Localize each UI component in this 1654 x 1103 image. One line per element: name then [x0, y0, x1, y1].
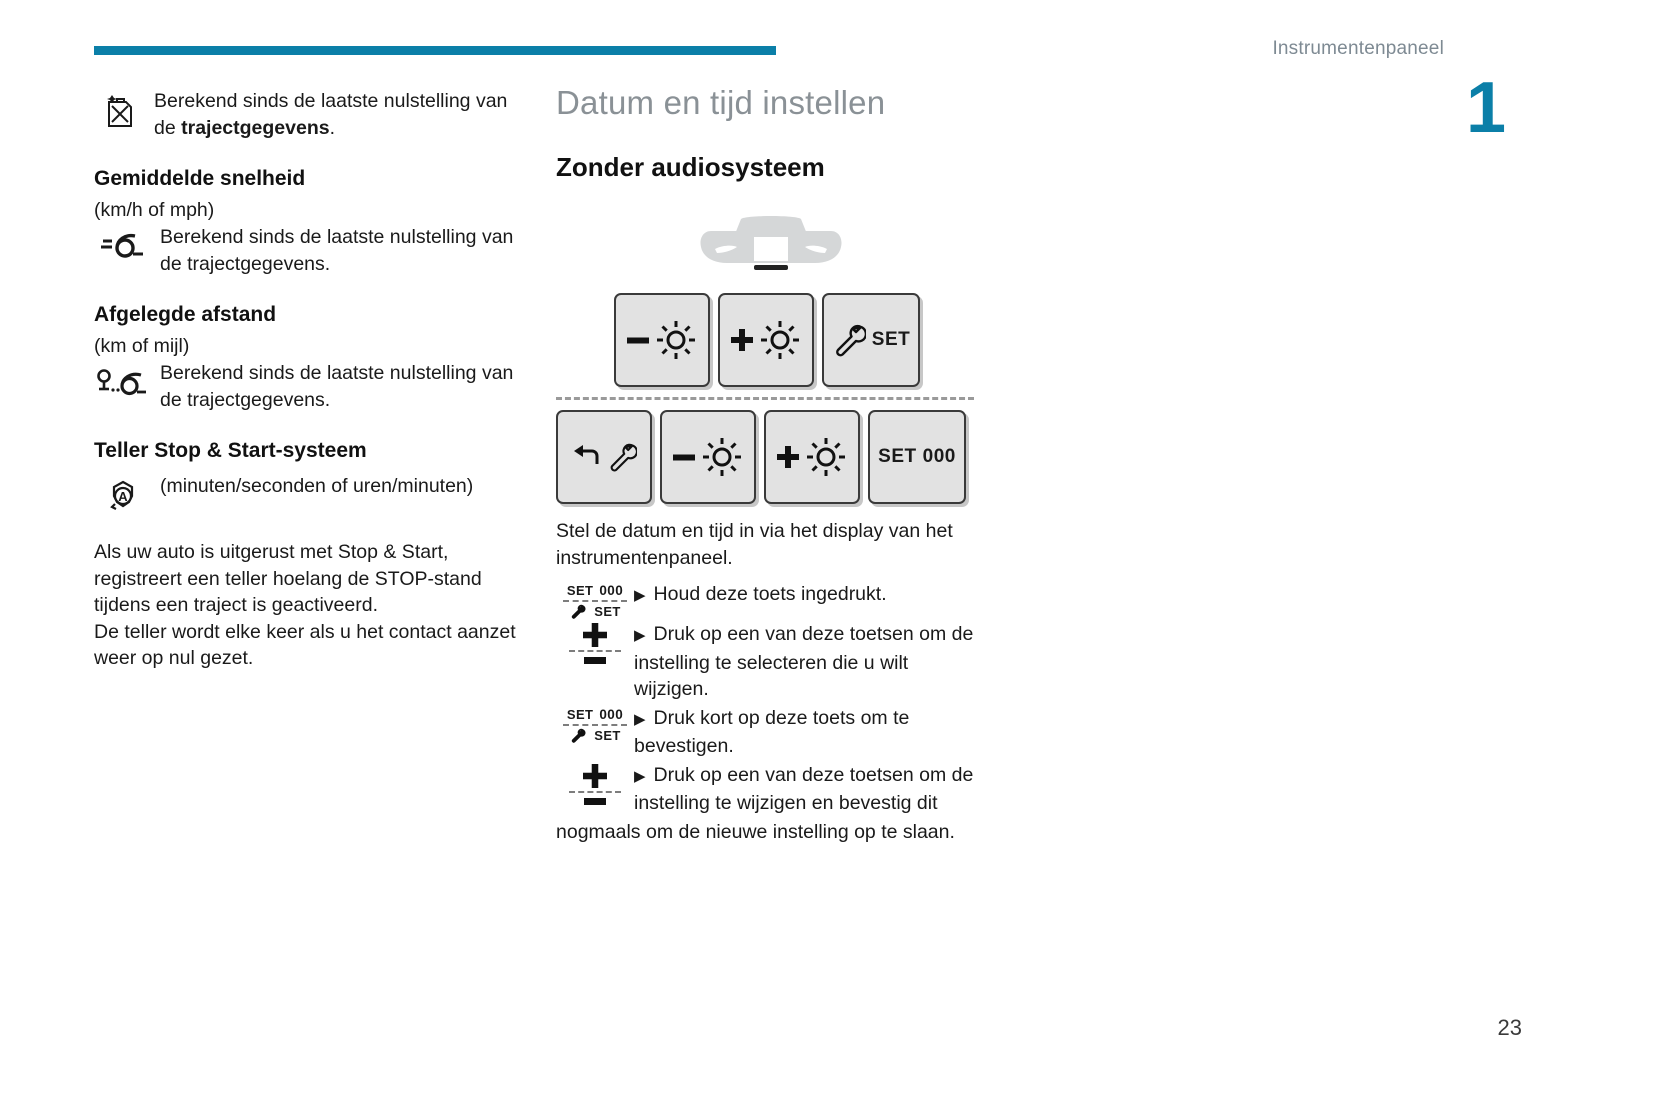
sun-icon: [701, 436, 743, 478]
instruction-sentence-tail: instelling te wijzigen en bevestig dit: [634, 792, 938, 814]
instruction-text: ▶Druk kort op deze toets om tebevestigen…: [634, 705, 986, 760]
unit-average-speed: (km/h of mph): [94, 199, 534, 222]
stop-start-description: Als uw auto is uitgerust met Stop & Star…: [94, 539, 534, 672]
instrument-cluster-icon: [697, 205, 845, 271]
plus-icon: [731, 329, 753, 351]
key-row-lower: SET 000: [556, 410, 986, 504]
glyph-set-label: SET: [567, 707, 593, 722]
glyph-000-label: 000: [599, 583, 623, 598]
distance-travelled-note-row: Berekend sinds de laatste nulstelling va…: [94, 360, 534, 413]
right-column: Datum en tijd instellen Zonder audiosyst…: [556, 84, 986, 845]
left-column: Berekend sinds de laatste nulstelling va…: [94, 88, 534, 672]
average-speed-note-row: Berekend sinds de laatste nulstelling va…: [94, 224, 534, 277]
instructions-closing: nogmaals om de nieuwe instelling op te s…: [556, 819, 986, 846]
page-number: 23: [1498, 1015, 1522, 1041]
stop-start-paragraph-1: Als uw auto is uitgerust met Stop & Star…: [94, 539, 534, 619]
page-header-title: Instrumentenpaneel: [1272, 38, 1444, 60]
plus-icon: [777, 446, 799, 468]
instruction-sentence-tail: instelling te selecteren die u wilt wijz…: [634, 652, 908, 701]
glyph-000-label: 000: [599, 707, 623, 722]
brightness-increase-key[interactable]: [718, 293, 814, 387]
bullet-arrow-icon: ▶: [634, 583, 646, 610]
back-arrow-icon: [571, 444, 601, 470]
wrench-set-key[interactable]: SET: [822, 293, 920, 387]
stop-start-note-row: A (minuten/seconden of uren/minuten): [94, 473, 534, 517]
minus-icon: [583, 796, 607, 806]
stop-start-a-icon: A: [94, 473, 152, 517]
wrench-icon: [832, 323, 866, 357]
instruction-sentence: Druk op een van deze toetsen om de: [654, 623, 974, 645]
instruction-sentence: Druk op een van deze toetsen om de: [654, 764, 974, 786]
brightness-increase-key[interactable]: [764, 410, 860, 504]
back-wrench-key[interactable]: [556, 410, 652, 504]
set-000-key[interactable]: SET 000: [868, 410, 966, 504]
minus-icon: [673, 452, 695, 462]
bullet-arrow-icon: ▶: [634, 623, 646, 650]
wrench-icon: [569, 604, 586, 619]
heading-stop-start-counter: Teller Stop & Start-systeem: [94, 439, 534, 463]
distance-travelled-icon: [94, 360, 152, 400]
glyph-wrench-set-label: SET: [594, 728, 620, 743]
distance-travelled-note-text: Berekend sinds de laatste nulstelling va…: [160, 360, 534, 413]
stop-start-unit-text: (minuten/seconden of uren/minuten): [160, 473, 534, 500]
plus-icon: [583, 623, 607, 647]
key-rows-divider: [556, 397, 974, 400]
instruction-text: ▶Druk op een van deze toetsen om deinste…: [634, 762, 986, 817]
instruction-text: ▶Druk op een van deze toetsen om deinste…: [634, 621, 986, 703]
note-text-bold: trajectgegevens: [181, 117, 330, 139]
bullet-arrow-icon: ▶: [634, 707, 646, 734]
brightness-decrease-key[interactable]: [614, 293, 710, 387]
instruction-sentence-tail: bevestigen.: [634, 735, 734, 757]
instruction-text: ▶Houd deze toets ingedrukt.: [634, 581, 986, 610]
set-000-wrench-set-glyph: SET 000 SET: [556, 705, 634, 743]
instructions-intro: Stel de datum en tijd in via het display…: [556, 518, 986, 571]
stop-start-paragraph-2: De teller wordt elke keer als u het cont…: [94, 619, 534, 672]
key-label-000: 000: [923, 446, 956, 468]
instruction-step: ▶Druk op een van deze toetsen om deinste…: [556, 621, 986, 703]
fuel-consumption-note-row: Berekend sinds de laatste nulstelling va…: [94, 88, 534, 141]
minus-icon: [583, 655, 607, 665]
bullet-arrow-icon: ▶: [634, 764, 646, 791]
section-title: Datum en tijd instellen: [556, 84, 986, 122]
instruction-step: ▶Druk op een van deze toetsen om deinste…: [556, 762, 986, 817]
key-row-upper: SET: [614, 293, 986, 387]
chapter-number-tab: 1: [1466, 72, 1506, 144]
instruction-sentence: Druk kort op deze toets om te: [654, 707, 910, 729]
key-label-set: SET: [872, 329, 910, 351]
note-text-after: .: [330, 117, 335, 139]
plus-icon: [583, 764, 607, 788]
fuel-canister-crossed-icon: [94, 88, 146, 130]
subsection-title: Zonder audiosysteem: [556, 152, 986, 183]
wrench-icon: [569, 728, 586, 743]
plus-minus-glyph: [556, 621, 634, 665]
wrench-icon: [607, 442, 637, 472]
brightness-decrease-key[interactable]: [660, 410, 756, 504]
key-label-set: SET: [878, 446, 916, 468]
instruction-sentence: Houd deze toets ingedrukt.: [654, 583, 887, 605]
unit-distance-travelled: (km of mijl): [94, 335, 534, 358]
instruction-step: SET 000 SET ▶Houd deze toets ingedrukt.: [556, 581, 986, 619]
glyph-set-label: SET: [567, 583, 593, 598]
sun-icon: [805, 436, 847, 478]
header-accent-rule: [94, 46, 776, 55]
minus-icon: [627, 335, 649, 345]
svg-text:A: A: [118, 489, 128, 504]
instrument-cluster-illustration: [556, 205, 986, 271]
sun-icon: [655, 319, 697, 361]
sun-icon: [759, 319, 801, 361]
fuel-consumption-note-text: Berekend sinds de laatste nulstelling va…: [154, 88, 534, 141]
heading-distance-travelled: Afgelegde afstand: [94, 303, 534, 327]
set-000-wrench-set-glyph: SET 000 SET: [556, 581, 634, 619]
average-speed-note-text: Berekend sinds de laatste nulstelling va…: [160, 224, 534, 277]
average-speed-icon: [94, 224, 152, 262]
heading-average-speed: Gemiddelde snelheid: [94, 167, 534, 191]
glyph-wrench-set-label: SET: [594, 604, 620, 619]
instruction-step: SET 000 SET ▶Druk kort op deze toets om …: [556, 705, 986, 760]
plus-minus-glyph: [556, 762, 634, 806]
